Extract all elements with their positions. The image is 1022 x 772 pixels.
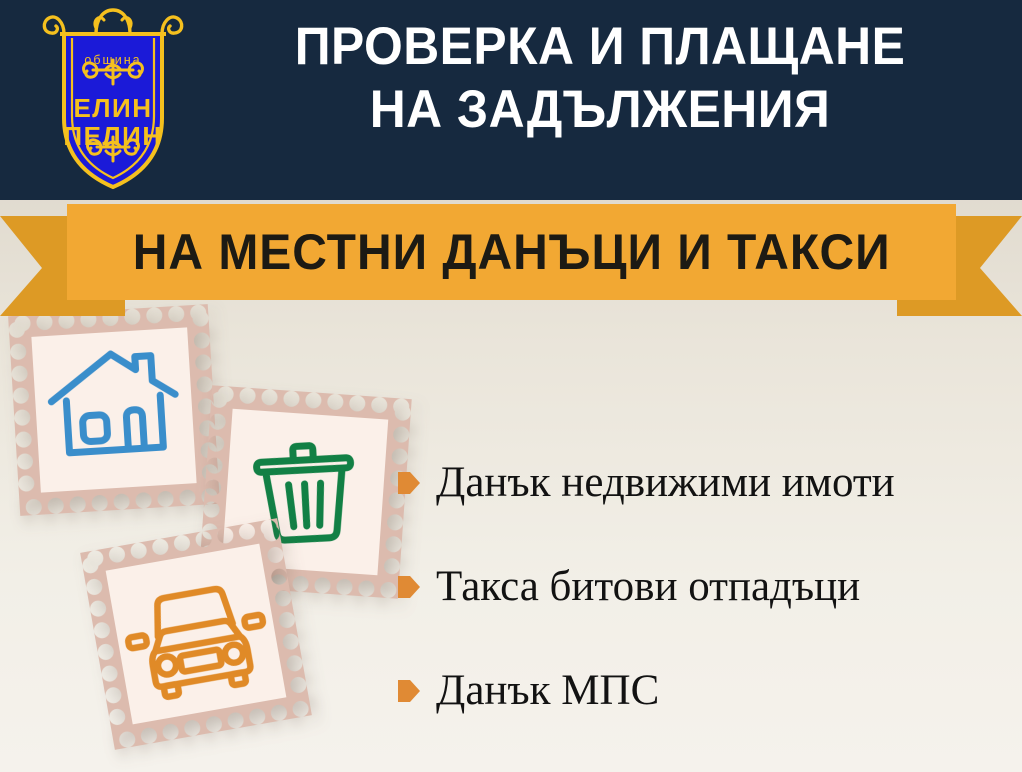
- ribbon-label: НА МЕСТНИ ДАНЪЦИ И ТАКСИ: [133, 223, 891, 281]
- list-item-label: Данък МПС: [436, 669, 659, 712]
- stamp-card-house: [8, 304, 220, 516]
- list-item[interactable]: Данък МПС: [398, 638, 1008, 742]
- tax-type-list: Данък недвижими имоти Такса битови отпад…: [398, 430, 1008, 742]
- arrow-bullet-icon: [398, 574, 420, 600]
- poster-canvas: община ЕЛИН ПЕЛИН ПРОВЕРКА И ПЛАЩАНЕ НА …: [0, 0, 1022, 772]
- crest-subtitle: община: [38, 54, 188, 67]
- subtitle-ribbon: НА МЕСТНИ ДАНЪЦИ И ТАКСИ: [0, 198, 1022, 318]
- list-item[interactable]: Данък недвижими имоти: [398, 430, 1008, 534]
- page-title: ПРОВЕРКА И ПЛАЩАНЕ НА ЗАДЪЛЖЕНИЯ: [190, 16, 1010, 141]
- page-title-line2: НА ЗАДЪЛЖЕНИЯ: [215, 79, 986, 142]
- list-item-label: Такса битови отпадъци: [436, 565, 860, 608]
- coat-of-arms-shield-icon: община ЕЛИН ПЕЛИН: [38, 6, 188, 191]
- ribbon-body: НА МЕСТНИ ДАНЪЦИ И ТАКСИ: [67, 204, 956, 300]
- arrow-bullet-icon: [398, 470, 420, 496]
- stamp-car-svg: [80, 518, 312, 750]
- stamp-house-svg: [8, 304, 220, 516]
- crest-name-line1: ЕЛИН: [38, 95, 188, 121]
- page-title-line1: ПРОВЕРКА И ПЛАЩАНЕ: [215, 16, 986, 79]
- list-item[interactable]: Такса битови отпадъци: [398, 534, 1008, 638]
- header-bar: община ЕЛИН ПЕЛИН ПРОВЕРКА И ПЛАЩАНЕ НА …: [0, 0, 1022, 200]
- crest-name-line2: ПЕЛИН: [38, 123, 188, 149]
- arrow-bullet-icon: [398, 678, 420, 704]
- stamp-card-car: [80, 518, 312, 750]
- list-item-label: Данък недвижими имоти: [436, 461, 895, 504]
